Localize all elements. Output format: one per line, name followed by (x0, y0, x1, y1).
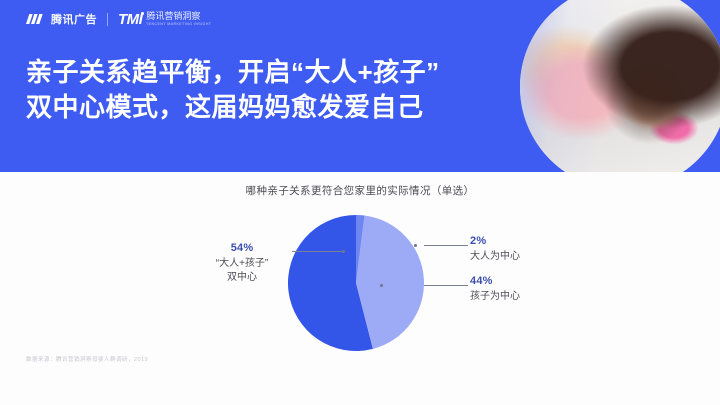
pie-label-adult-center: 2% 大人为中心 (470, 234, 520, 264)
pie-label-dual-center-percent: 54% (196, 241, 288, 257)
tmi-partner-name-cn: 腾讯营销洞察 (146, 11, 200, 21)
brand-logo-bar: 腾讯广告 TMI 腾讯营销洞察 TENCENT MARKETING INSIGH… (26, 9, 217, 29)
leader-line-left (292, 251, 344, 252)
leader-line-right-top (424, 245, 468, 246)
pie-chart-svg (286, 213, 426, 353)
pie-label-child-center: 44% 孩子为中心 (470, 274, 520, 304)
leader-dot-right-top (414, 244, 417, 247)
pie-chart (286, 213, 426, 353)
headline-line-2: 双中心模式，这届妈妈愈发爱自己 (26, 90, 526, 124)
chart-title: 哪种亲子关系更符合您家里的实际情况（单选） (0, 183, 720, 198)
mother-and-baby-photo (520, 0, 720, 172)
leader-line-right-bottom (424, 285, 468, 286)
pie-label-dual-center-name-2: 双中心 (196, 271, 288, 285)
photo-gradient-overlay (520, 0, 720, 172)
header-banner: 腾讯广告 TMI 腾讯营销洞察 TENCENT MARKETING INSIGH… (0, 0, 720, 172)
tmi-partner-name: 腾讯营销洞察 TENCENT MARKETING INSIGHT (146, 12, 217, 26)
page-title: 亲子关系趋平衡，开启“大人+孩子” 双中心模式，这届妈妈愈发爱自己 (26, 55, 526, 124)
source-footnote: 数据来源：腾讯营销洞察母婴人群调研，2019 (26, 355, 148, 363)
tmi-dot-icon (141, 12, 144, 15)
leader-dot-left (342, 250, 345, 253)
pie-label-dual-center-name-1: “大人+孩子” (196, 257, 288, 271)
tmi-logo-mark: TMI (118, 11, 142, 28)
pie-label-dual-center: 54% “大人+孩子” 双中心 (196, 241, 288, 285)
tmi-logo-text: TMI (118, 11, 142, 28)
pie-label-adult-center-percent: 2% (470, 234, 520, 250)
leader-dot-right-bottom (380, 284, 383, 287)
headline-line-1: 亲子关系趋平衡，开启“大人+孩子” (26, 55, 526, 89)
logo-divider (107, 13, 108, 26)
pie-label-adult-center-name: 大人为中心 (470, 250, 520, 264)
pie-label-child-center-percent: 44% (470, 274, 520, 290)
brand-logo-text: 腾讯广告 (51, 11, 97, 27)
slide-root: 腾讯广告 TMI 腾讯营销洞察 TENCENT MARKETING INSIGH… (0, 0, 720, 405)
pie-label-child-center-name: 孩子为中心 (470, 290, 520, 304)
tencent-ads-logo-icon (26, 12, 46, 26)
tmi-partner-name-en: TENCENT MARKETING INSIGHT (146, 22, 211, 26)
